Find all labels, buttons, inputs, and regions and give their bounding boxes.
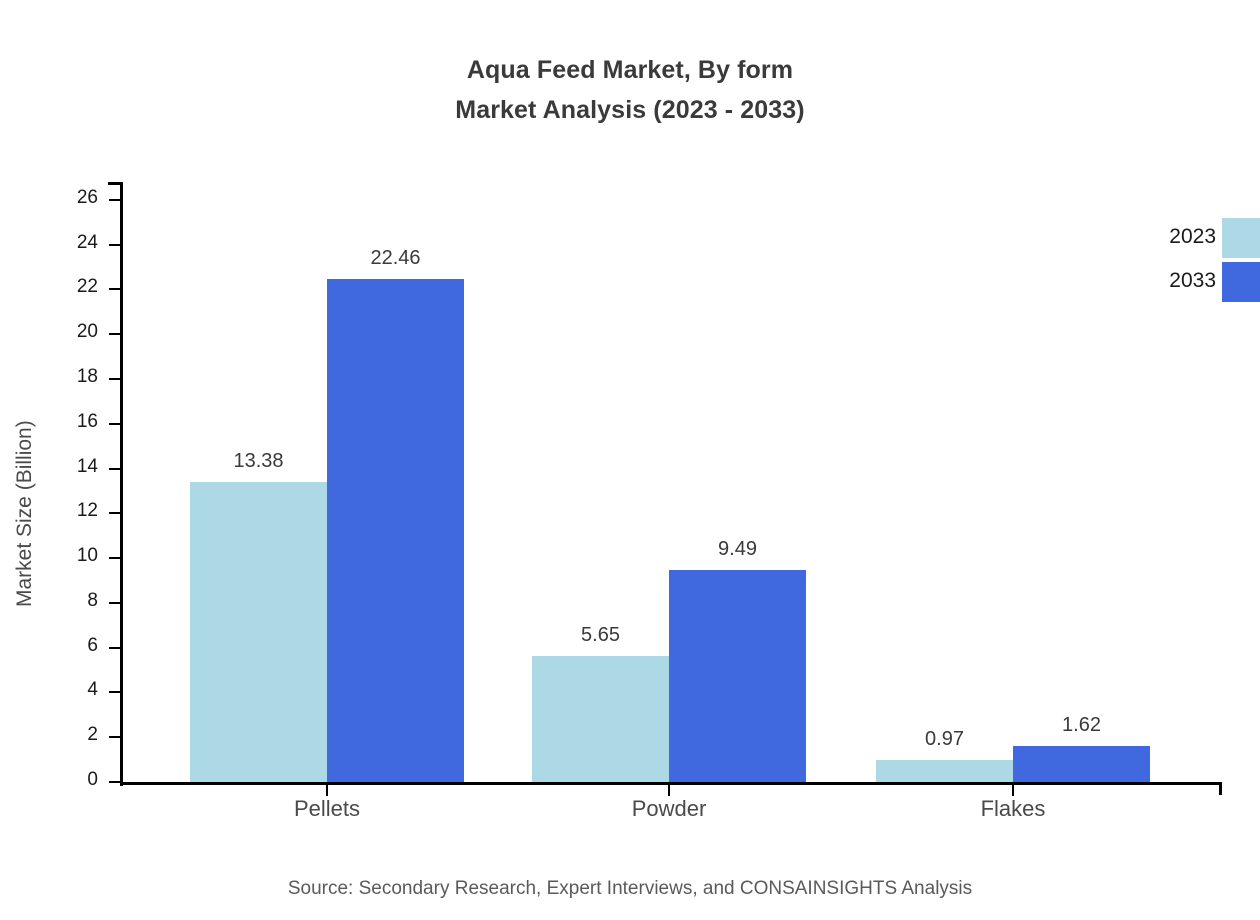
legend-swatch-2023 bbox=[1222, 218, 1260, 258]
y-tick-mark bbox=[109, 244, 120, 246]
y-tick-label: 22 bbox=[45, 276, 98, 298]
y-tick-mark bbox=[109, 781, 120, 783]
legend-item-2023[interactable]: 2023 bbox=[1130, 218, 1260, 258]
x-tick-mark bbox=[1012, 785, 1014, 796]
chart-title-line-2: Market Analysis (2023 - 2033) bbox=[0, 90, 1260, 130]
bar-value-label-flakes-2023: 0.97 bbox=[865, 728, 1025, 751]
bar-powder-2033[interactable] bbox=[669, 570, 806, 782]
x-axis-line bbox=[120, 782, 1222, 785]
y-tick-mark bbox=[109, 557, 120, 559]
y-tick-label: 6 bbox=[45, 635, 98, 657]
y-axis-line bbox=[120, 182, 123, 786]
y-tick-label: 24 bbox=[45, 232, 98, 254]
legend-item-2033[interactable]: 2033 bbox=[1130, 262, 1260, 302]
bar-pellets-2023[interactable] bbox=[190, 482, 327, 782]
bar-value-label-pellets-2033: 22.46 bbox=[316, 247, 476, 270]
y-tick-label: 20 bbox=[45, 321, 98, 343]
y-tick-mark bbox=[109, 199, 120, 201]
y-tick-label: 4 bbox=[45, 679, 98, 701]
y-tick-mark bbox=[109, 288, 120, 290]
y-tick-label: 26 bbox=[45, 187, 98, 209]
plot-area: 02468101214161820222426 PelletsPowderFla… bbox=[120, 182, 1222, 782]
chart-title-line-1: Aqua Feed Market, By form bbox=[0, 50, 1260, 90]
y-tick-mark bbox=[109, 691, 120, 693]
bar-value-label-powder-2033: 9.49 bbox=[658, 538, 818, 561]
y-tick-mark bbox=[109, 423, 120, 425]
x-tick-mark bbox=[668, 785, 670, 796]
bar-value-label-flakes-2033: 1.62 bbox=[1002, 714, 1162, 737]
y-tick-mark bbox=[109, 333, 120, 335]
y-axis-top-cap bbox=[108, 182, 121, 185]
x-tick-mark bbox=[326, 785, 328, 796]
chart-title: Aqua Feed Market, By form Market Analysi… bbox=[0, 50, 1260, 130]
bar-value-label-powder-2023: 5.65 bbox=[521, 624, 681, 647]
y-tick-label: 14 bbox=[45, 456, 98, 478]
y-tick-label: 2 bbox=[45, 724, 98, 746]
y-tick-label: 10 bbox=[45, 545, 98, 567]
y-tick-label: 0 bbox=[45, 769, 98, 791]
bar-pellets-2033[interactable] bbox=[327, 279, 464, 782]
legend-label-2023: 2023 bbox=[1130, 225, 1216, 249]
bar-flakes-2023[interactable] bbox=[876, 760, 1013, 782]
bar-flakes-2033[interactable] bbox=[1013, 746, 1150, 782]
y-tick-mark bbox=[109, 736, 120, 738]
y-tick-mark bbox=[109, 602, 120, 604]
y-tick-label: 8 bbox=[45, 590, 98, 612]
bar-powder-2023[interactable] bbox=[532, 656, 669, 782]
source-note: Source: Secondary Research, Expert Inter… bbox=[0, 878, 1260, 900]
chart-figure: Aqua Feed Market, By form Market Analysi… bbox=[0, 0, 1260, 920]
y-tick-mark bbox=[109, 647, 120, 649]
y-tick-mark bbox=[109, 468, 120, 470]
x-tick-label-flakes: Flakes bbox=[883, 796, 1143, 822]
x-tick-label-powder: Powder bbox=[539, 796, 799, 822]
legend-label-2033: 2033 bbox=[1130, 269, 1216, 293]
legend-swatch-2033 bbox=[1222, 262, 1260, 302]
x-axis-right-cap bbox=[1219, 782, 1222, 795]
y-tick-label: 12 bbox=[45, 500, 98, 522]
y-tick-mark bbox=[109, 378, 120, 380]
y-tick-mark bbox=[109, 512, 120, 514]
y-tick-label: 16 bbox=[45, 411, 98, 433]
x-tick-label-pellets: Pellets bbox=[197, 796, 457, 822]
bar-value-label-pellets-2023: 13.38 bbox=[179, 450, 339, 473]
y-tick-label: 18 bbox=[45, 366, 98, 388]
chart-legend: 20232033 bbox=[1130, 218, 1260, 302]
